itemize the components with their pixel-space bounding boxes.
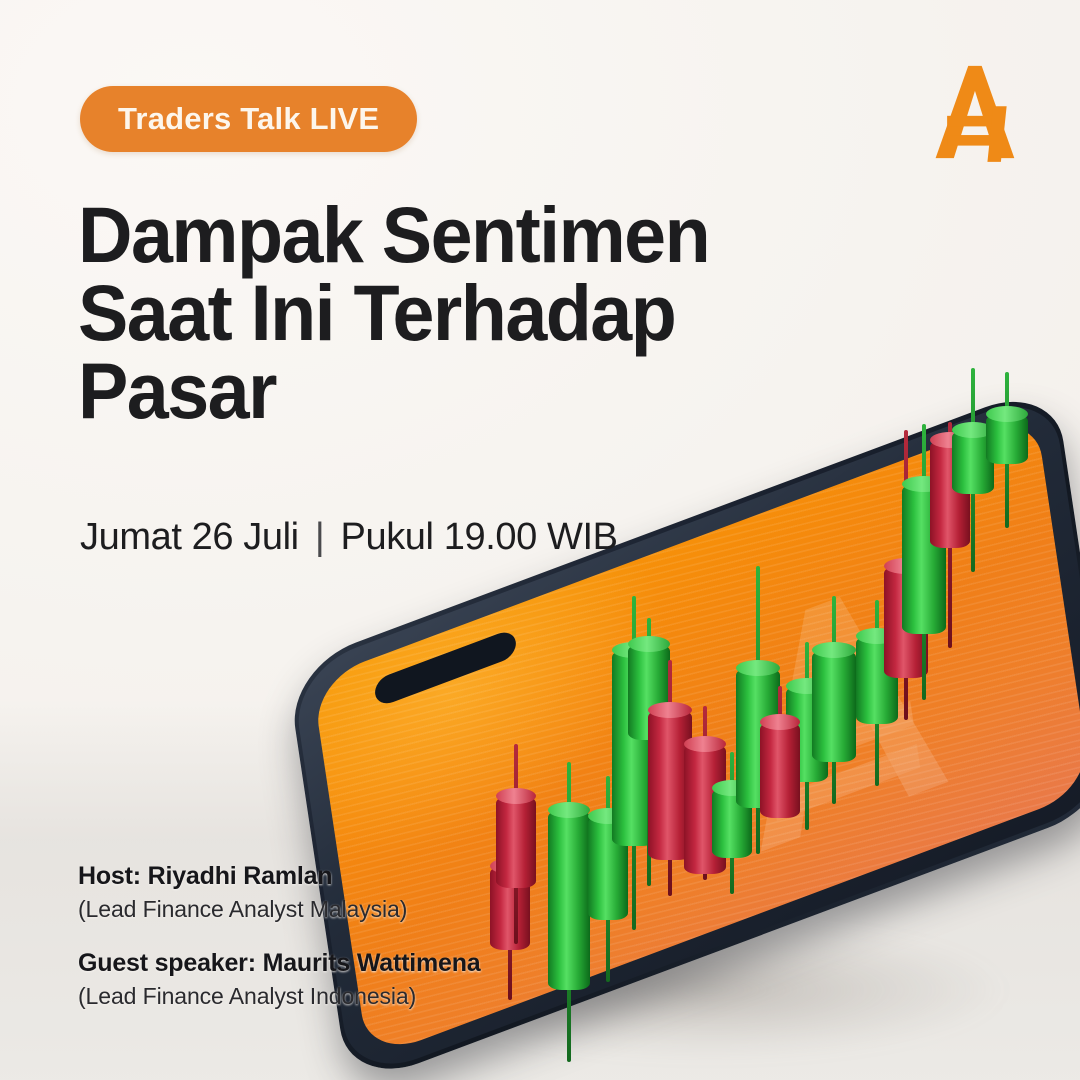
credit-host-role: (Lead Finance Analyst Malaysia) xyxy=(78,896,598,923)
schedule-line: Jumat 26 Juli | Pukul 19.00 WIB xyxy=(80,516,618,559)
credits-block: Host: Riyadhi Ramlan (Lead Finance Analy… xyxy=(78,862,598,1010)
headline-line-2: Saat Ini Terhadap xyxy=(78,274,804,352)
credit-guest-role: (Lead Finance Analyst Indonesia) xyxy=(78,983,598,1010)
live-badge: Traders Talk LIVE xyxy=(80,86,417,152)
schedule-separator: | xyxy=(309,516,330,558)
promo-poster: Traders Talk LIVE Dampak Sentimen Saat I… xyxy=(0,0,1080,1080)
page-title: Dampak Sentimen Saat Ini Terhadap Pasar xyxy=(78,196,804,429)
brand-a-logo-icon xyxy=(926,62,1022,162)
credit-guest-name: Guest speaker: Maurits Wattimena xyxy=(78,949,598,978)
credit-guest: Guest speaker: Maurits Wattimena (Lead F… xyxy=(78,949,598,1010)
live-badge-label: Traders Talk LIVE xyxy=(118,101,379,137)
headline-line-3: Pasar xyxy=(78,352,804,430)
schedule-time: Pukul 19.00 WIB xyxy=(341,516,618,558)
schedule-date: Jumat 26 Juli xyxy=(80,516,299,558)
credit-host: Host: Riyadhi Ramlan (Lead Finance Analy… xyxy=(78,862,598,923)
headline-line-1: Dampak Sentimen xyxy=(78,196,804,274)
credit-host-name: Host: Riyadhi Ramlan xyxy=(78,862,598,891)
